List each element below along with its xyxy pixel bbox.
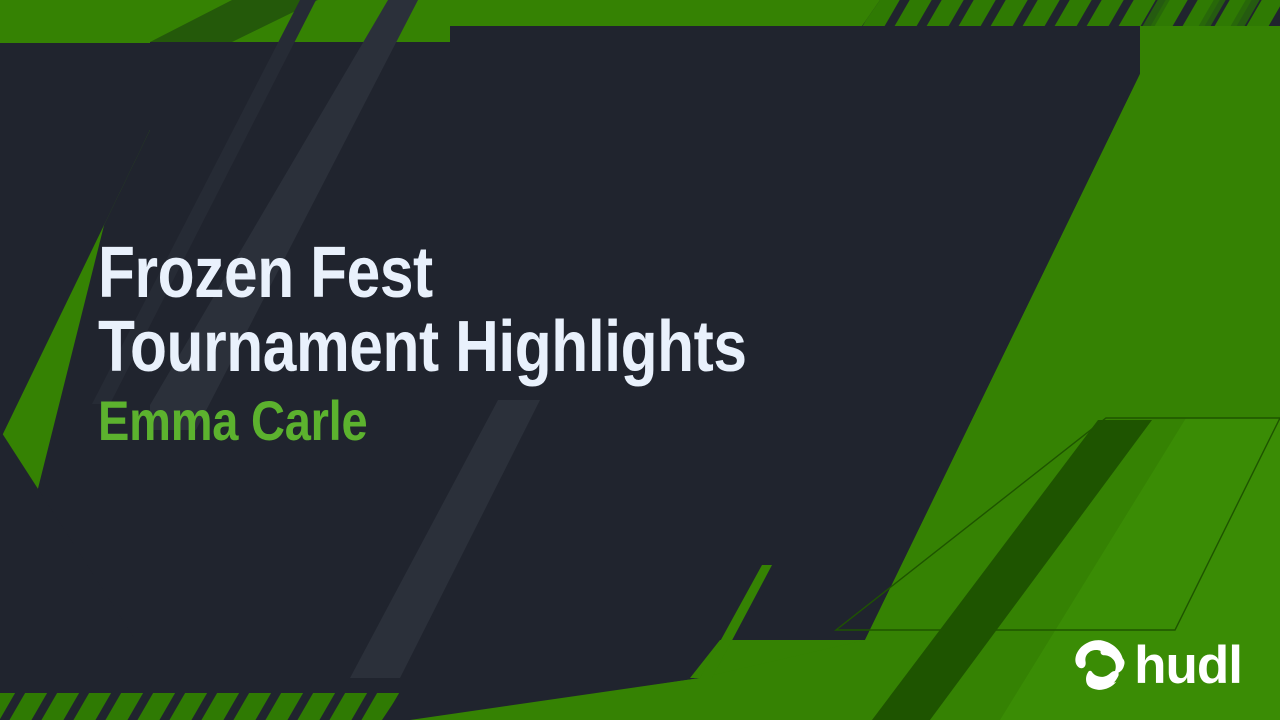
title-text-block: Frozen Fest Tournament Highlights Emma C… <box>98 236 918 450</box>
hudl-logo: hudl <box>1072 638 1242 692</box>
hudl-wordmark: hudl <box>1134 639 1242 692</box>
slide-title-line-2: Tournament Highlights <box>98 310 787 384</box>
hudl-shield-icon <box>1072 638 1126 692</box>
presenter-name: Emma Carle <box>98 392 787 450</box>
title-slide: Frozen Fest Tournament Highlights Emma C… <box>0 0 1280 720</box>
slide-title-line-1: Frozen Fest <box>98 236 787 310</box>
